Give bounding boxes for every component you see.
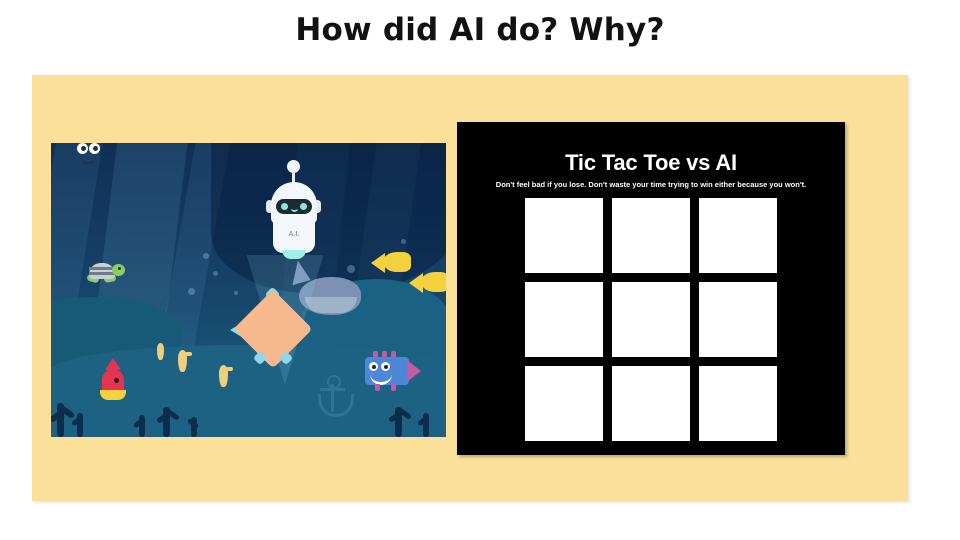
seahorse-snout-icon xyxy=(226,367,233,371)
turtle-eye-icon xyxy=(118,267,121,270)
tictactoe-cell-5[interactable] xyxy=(699,282,777,357)
bubble-icon xyxy=(213,271,218,276)
seahorse-snout-icon xyxy=(185,352,192,356)
ai-robot-icon: A.I. xyxy=(263,158,323,268)
tictactoe-cell-3[interactable] xyxy=(525,282,603,357)
robot-eye-icon xyxy=(281,203,288,210)
turtle-head-icon xyxy=(112,264,125,276)
bubble-icon xyxy=(401,239,406,244)
slide-content-card: A.I. Tic Tac Toe vs AI Don't feel bad if… xyxy=(32,75,908,501)
anchor-crossbar xyxy=(320,388,345,391)
robot-smile-icon xyxy=(291,206,298,212)
box-fish-tail-icon xyxy=(407,360,421,382)
anchor-icon xyxy=(327,375,341,389)
squid-skirt xyxy=(100,390,126,400)
squid-eye-icon xyxy=(114,378,119,383)
tictactoe-cell-6[interactable] xyxy=(525,366,603,441)
bubble-icon xyxy=(234,291,238,295)
turtle-shell-stripe xyxy=(89,272,115,275)
tictactoe-board xyxy=(525,198,777,441)
box-fish-pupil xyxy=(372,365,376,369)
tictactoe-title: Tic Tac Toe vs AI xyxy=(457,150,845,176)
box-fish-pupil xyxy=(384,365,388,369)
robot-ai-label: A.I. xyxy=(273,231,315,238)
page-title: How did AI do? Why? xyxy=(0,12,960,48)
robot-lamp-icon xyxy=(282,250,306,259)
box-fish-fin-icon xyxy=(375,384,380,391)
bubble-icon xyxy=(347,265,355,273)
tictactoe-cell-4[interactable] xyxy=(612,282,690,357)
tictactoe-cell-7[interactable] xyxy=(612,366,690,441)
spotlight-fish-pupil xyxy=(81,146,86,151)
yellow-fish-body xyxy=(383,252,411,272)
tictactoe-cell-8[interactable] xyxy=(699,366,777,441)
underwater-illustration: A.I. xyxy=(51,143,446,437)
box-fish-fin-icon xyxy=(391,384,396,391)
bubble-icon xyxy=(188,288,195,295)
tictactoe-cell-1[interactable] xyxy=(612,198,690,273)
tictactoe-panel: Tic Tac Toe vs AI Don't feel bad if you … xyxy=(457,122,845,455)
spotlight-fish-pupil xyxy=(93,146,98,151)
robot-eye-icon xyxy=(300,203,307,210)
yellow-fish-body xyxy=(421,272,446,292)
tictactoe-subtitle: Don't feel bad if you lose. Don't waste … xyxy=(457,180,845,189)
tictactoe-cell-0[interactable] xyxy=(525,198,603,273)
robot-visor-icon xyxy=(276,199,312,214)
tictactoe-cell-2[interactable] xyxy=(699,198,777,273)
bubble-icon xyxy=(203,253,209,259)
seahorse-icon xyxy=(157,343,164,360)
